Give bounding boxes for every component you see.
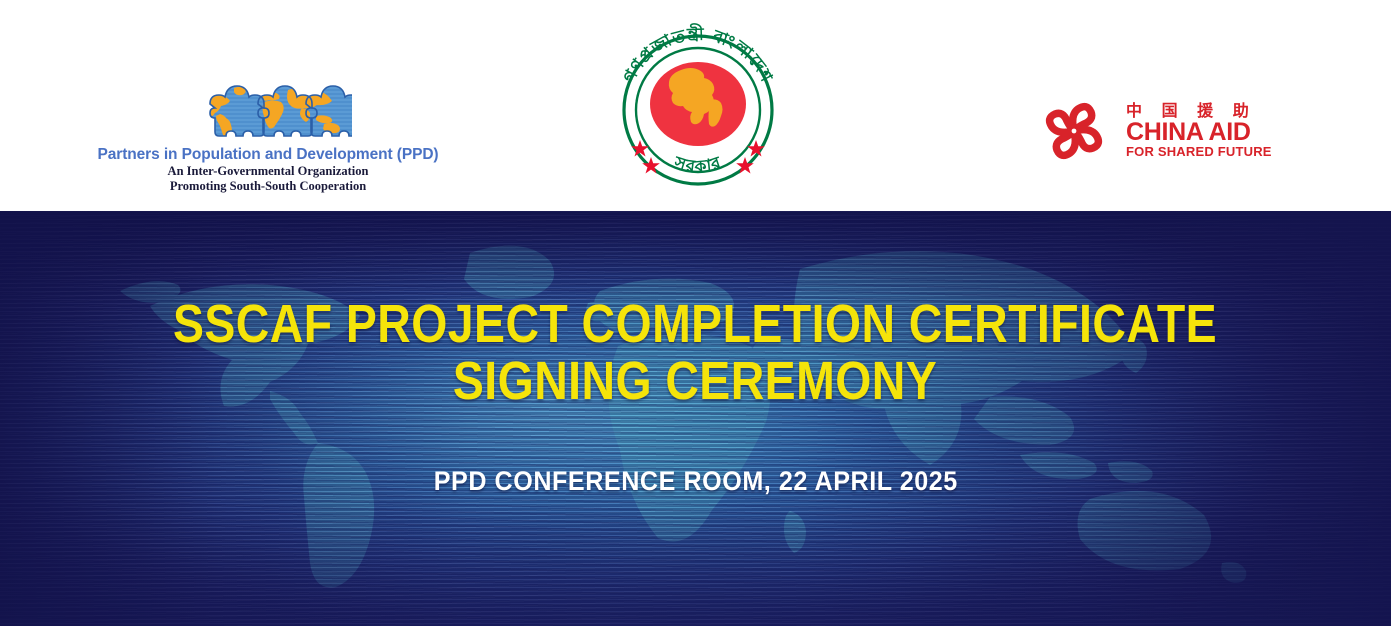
banner-text-block: SSCAF PROJECT COMPLETION CERTIFICATE SIG… [0, 211, 1391, 626]
event-banner: Partners in Population and Development (… [0, 0, 1391, 626]
china-aid-logo: 中 国 援 助 CHINA AID FOR SHARED FUTURE [1036, 92, 1276, 170]
china-aid-tagline: FOR SHARED FUTURE [1126, 145, 1272, 160]
event-title: SSCAF PROJECT COMPLETION CERTIFICATE SIG… [173, 296, 1217, 410]
ppd-logo-title: Partners in Population and Development (… [78, 146, 458, 164]
china-aid-knot-icon [1036, 98, 1112, 164]
banner-hero: SSCAF PROJECT COMPLETION CERTIFICATE SIG… [0, 211, 1391, 626]
ppd-logo-subtitle-2: Promoting South-South Cooperation [78, 179, 458, 194]
china-aid-english-text: CHINA AID [1126, 120, 1272, 145]
bangladesh-government-emblem-icon: গণপ্রজাতন্ত্রী বাংলাদেশ সরকার [603, 22, 793, 192]
ppd-logo: Partners in Population and Development (… [78, 78, 458, 193]
event-venue-date: PPD CONFERENCE ROOM, 22 APRIL 2025 [433, 467, 957, 497]
ppd-puzzle-people-world-icon [184, 78, 352, 140]
ppd-logo-subtitle-1: An Inter-Governmental Organization [78, 164, 458, 179]
logo-header-bar: Partners in Population and Development (… [0, 0, 1391, 211]
